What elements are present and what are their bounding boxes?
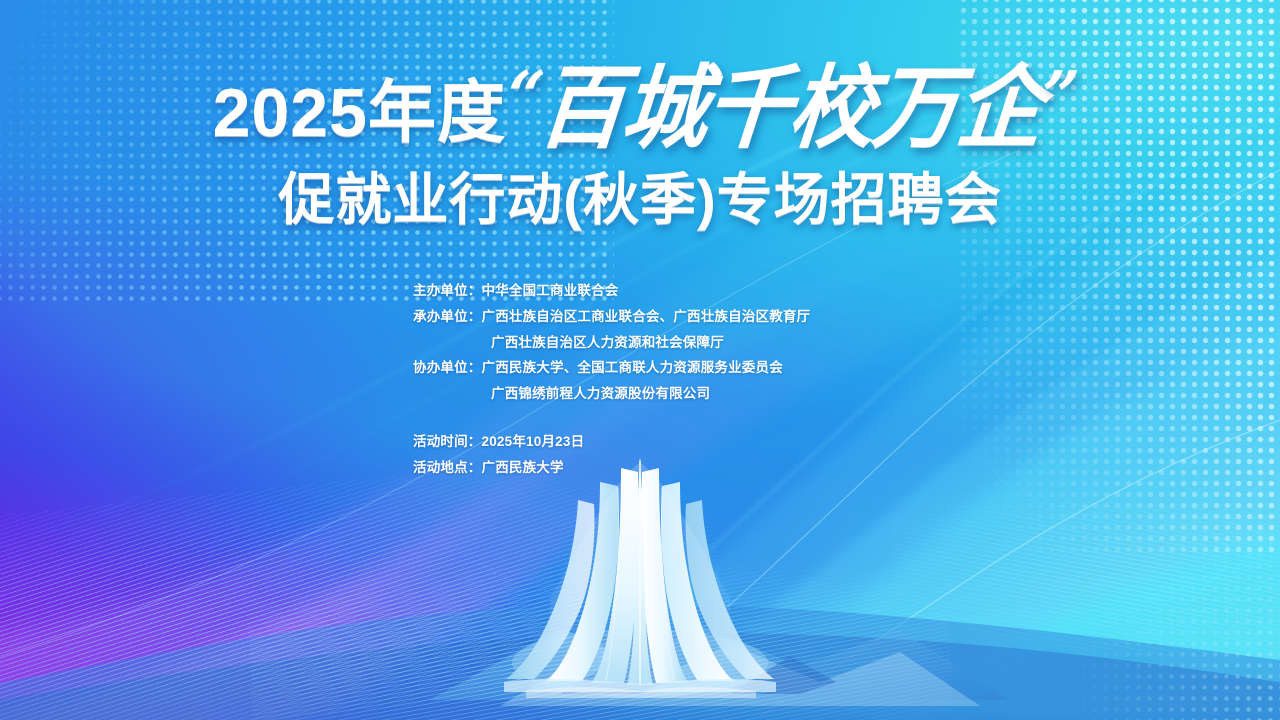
detail-line-host-cont: 广西壮族自治区人力资源和社会保障厅: [413, 330, 810, 356]
detail-line-coorganizer-cont: 广西锦绣前程人力资源股份有限公司: [413, 381, 810, 407]
detail-label: 协办单位：: [413, 355, 482, 381]
title-year: 2025年度: [213, 79, 506, 147]
title-slogan: 百城千校万企: [534, 54, 1045, 161]
title-slogan-group: “百城千校万企”: [502, 63, 1076, 154]
detail-value: 广西壮族自治区工商业联合会、广西壮族自治区教育厅: [482, 304, 811, 330]
detail-line-host: 承办单位：广西壮族自治区工商业联合会、广西壮族自治区教育厅: [413, 304, 810, 330]
detail-line-date: 活动时间：2025年10月23日: [413, 429, 810, 455]
event-banner: 2025年度“百城千校万企” 促就业行动(秋季)专场招聘会 主办单位：中华全国工…: [0, 0, 1280, 720]
detail-label: 活动时间：: [413, 429, 482, 455]
detail-value: 中华全国工商业联合会: [482, 278, 619, 304]
page-title: 2025年度“百城千校万企”: [0, 66, 1280, 150]
detail-label: 活动地点：: [413, 455, 482, 481]
event-details: 主办单位：中华全国工商业联合会 承办单位：广西壮族自治区工商业联合会、广西壮族自…: [413, 278, 810, 481]
page-subtitle: 促就业行动(秋季)专场招聘会: [0, 172, 1280, 228]
detail-value: 广西锦绣前程人力资源股份有限公司: [491, 381, 710, 407]
quote-close: ”: [1038, 56, 1077, 135]
detail-line-organizer: 主办单位：中华全国工商业联合会: [413, 278, 810, 304]
detail-label: 主办单位：: [413, 278, 482, 304]
detail-line-venue: 活动地点：广西民族大学: [413, 455, 810, 481]
detail-value: 2025年10月23日: [482, 429, 585, 455]
detail-value: 广西民族大学、全国工商联人力资源服务业委员会: [482, 355, 783, 381]
detail-line-coorganizer: 协办单位：广西民族大学、全国工商联人力资源服务业委员会: [413, 355, 810, 381]
detail-value: 广西民族大学: [482, 455, 564, 481]
detail-label: 承办单位：: [413, 304, 482, 330]
detail-value: 广西壮族自治区人力资源和社会保障厅: [491, 330, 724, 356]
